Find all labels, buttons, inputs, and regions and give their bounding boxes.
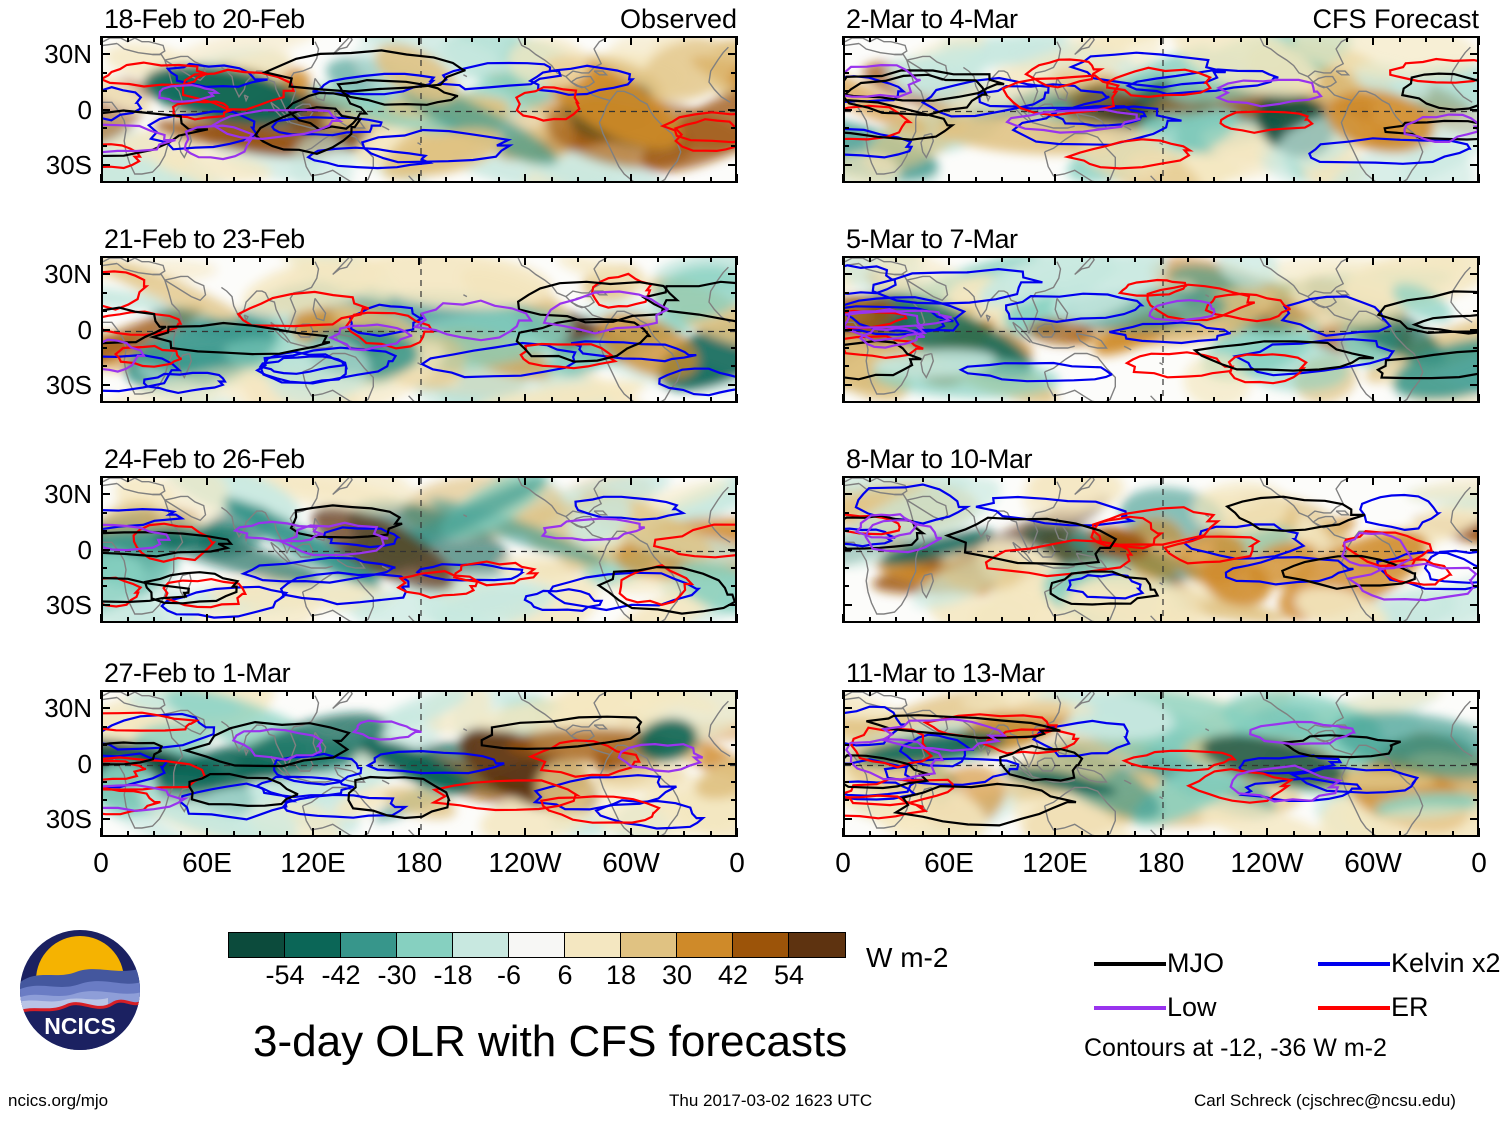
colorbar-swatch xyxy=(733,933,789,957)
colorbar-swatch xyxy=(677,933,733,957)
y-axis-tick-label: 30S xyxy=(0,806,92,832)
y-axis-tick-label: 0 xyxy=(0,751,92,777)
colorbar-swatch xyxy=(565,933,621,957)
colorbar-swatch xyxy=(285,933,341,957)
x-axis-tick-label: 120E xyxy=(995,849,1115,877)
map-panel xyxy=(101,36,737,183)
colorbar-swatch xyxy=(397,933,453,957)
footer-website[interactable]: ncics.org/mjo xyxy=(8,1092,108,1109)
legend-line-low xyxy=(1094,1006,1166,1010)
column-header: Observed xyxy=(507,6,737,33)
olr-anomaly-shading xyxy=(845,692,1479,837)
colorbar-tick-label: 54 xyxy=(749,962,829,989)
contour-levels-note: Contours at -12, -36 W m-2 xyxy=(1084,1036,1387,1061)
x-axis-tick-label: 60W xyxy=(571,849,691,877)
legend-label: MJO xyxy=(1167,950,1224,977)
x-axis-tick-label: 60E xyxy=(889,849,1009,877)
y-axis-tick-label: 30N xyxy=(0,261,92,287)
y-axis-tick-label: 30N xyxy=(0,481,92,507)
y-axis-tick-label: 30S xyxy=(0,372,92,398)
y-axis-tick-label: 30S xyxy=(0,592,92,618)
colorbar-swatch xyxy=(341,933,397,957)
y-axis-tick-label: 0 xyxy=(0,317,92,343)
x-axis-tick-label: 120W xyxy=(465,849,585,877)
colorbar xyxy=(228,932,846,958)
ncics-logo: NCICS xyxy=(18,928,142,1052)
logo-text: NCICS xyxy=(44,1013,116,1039)
panel-title: 8-Mar to 10-Mar xyxy=(846,446,1032,473)
colorbar-swatch xyxy=(453,933,509,957)
y-axis-tick-label: 30N xyxy=(0,41,92,67)
panel-title: 2-Mar to 4-Mar xyxy=(846,6,1018,33)
olr-anomaly-shading xyxy=(845,478,1479,623)
panel-title: 11-Mar to 13-Mar xyxy=(846,660,1045,687)
panel-title: 27-Feb to 1-Mar xyxy=(104,660,290,687)
y-axis-tick-label: 0 xyxy=(0,537,92,563)
x-axis-tick-label: 0 xyxy=(1419,849,1510,877)
olr-anomaly-shading xyxy=(103,692,737,837)
x-axis-tick-label: 180 xyxy=(359,849,479,877)
column-header: CFS Forecast xyxy=(1249,6,1479,33)
x-axis-tick-label: 0 xyxy=(783,849,903,877)
colorbar-swatch xyxy=(509,933,565,957)
x-axis-tick-label: 0 xyxy=(41,849,161,877)
x-axis-tick-label: 60E xyxy=(147,849,267,877)
map-panel xyxy=(843,690,1479,837)
y-axis-tick-label: 30N xyxy=(0,695,92,721)
figure-title: 3-day OLR with CFS forecasts xyxy=(253,1020,847,1064)
legend-label: ER xyxy=(1391,994,1429,1021)
panel-title: 5-Mar to 7-Mar xyxy=(846,226,1018,253)
legend-label: Kelvin x2 xyxy=(1391,950,1501,977)
x-axis-tick-label: 0 xyxy=(677,849,797,877)
colorbar-units-label: W m-2 xyxy=(866,944,948,972)
x-axis-tick-label: 120W xyxy=(1207,849,1327,877)
map-panel xyxy=(843,256,1479,403)
panel-title: 21-Feb to 23-Feb xyxy=(104,226,305,253)
y-axis-tick-label: 30S xyxy=(0,152,92,178)
map-panel xyxy=(101,690,737,837)
footer-author[interactable]: Carl Schreck (cjschrec@ncsu.edu) xyxy=(1194,1092,1456,1109)
map-panel xyxy=(843,36,1479,183)
panel-title: 18-Feb to 20-Feb xyxy=(104,6,305,33)
map-panel xyxy=(101,256,737,403)
colorbar-swatch xyxy=(229,933,285,957)
legend-line-er xyxy=(1318,1006,1390,1010)
footer-timestamp: Thu 2017-03-02 1623 UTC xyxy=(669,1092,872,1109)
x-axis-tick-label: 180 xyxy=(1101,849,1221,877)
colorbar-swatch xyxy=(789,933,845,957)
legend-line-mjo xyxy=(1094,962,1166,966)
map-panel xyxy=(101,476,737,623)
x-axis-tick-label: 60W xyxy=(1313,849,1433,877)
map-panel xyxy=(843,476,1479,623)
legend-line-kelvin-x2 xyxy=(1318,962,1390,966)
y-axis-tick-label: 0 xyxy=(0,97,92,123)
colorbar-swatch xyxy=(621,933,677,957)
x-axis-tick-label: 120E xyxy=(253,849,373,877)
olr-anomaly-shading xyxy=(103,258,737,403)
legend-label: Low xyxy=(1167,994,1217,1021)
panel-title: 24-Feb to 26-Feb xyxy=(104,446,305,473)
